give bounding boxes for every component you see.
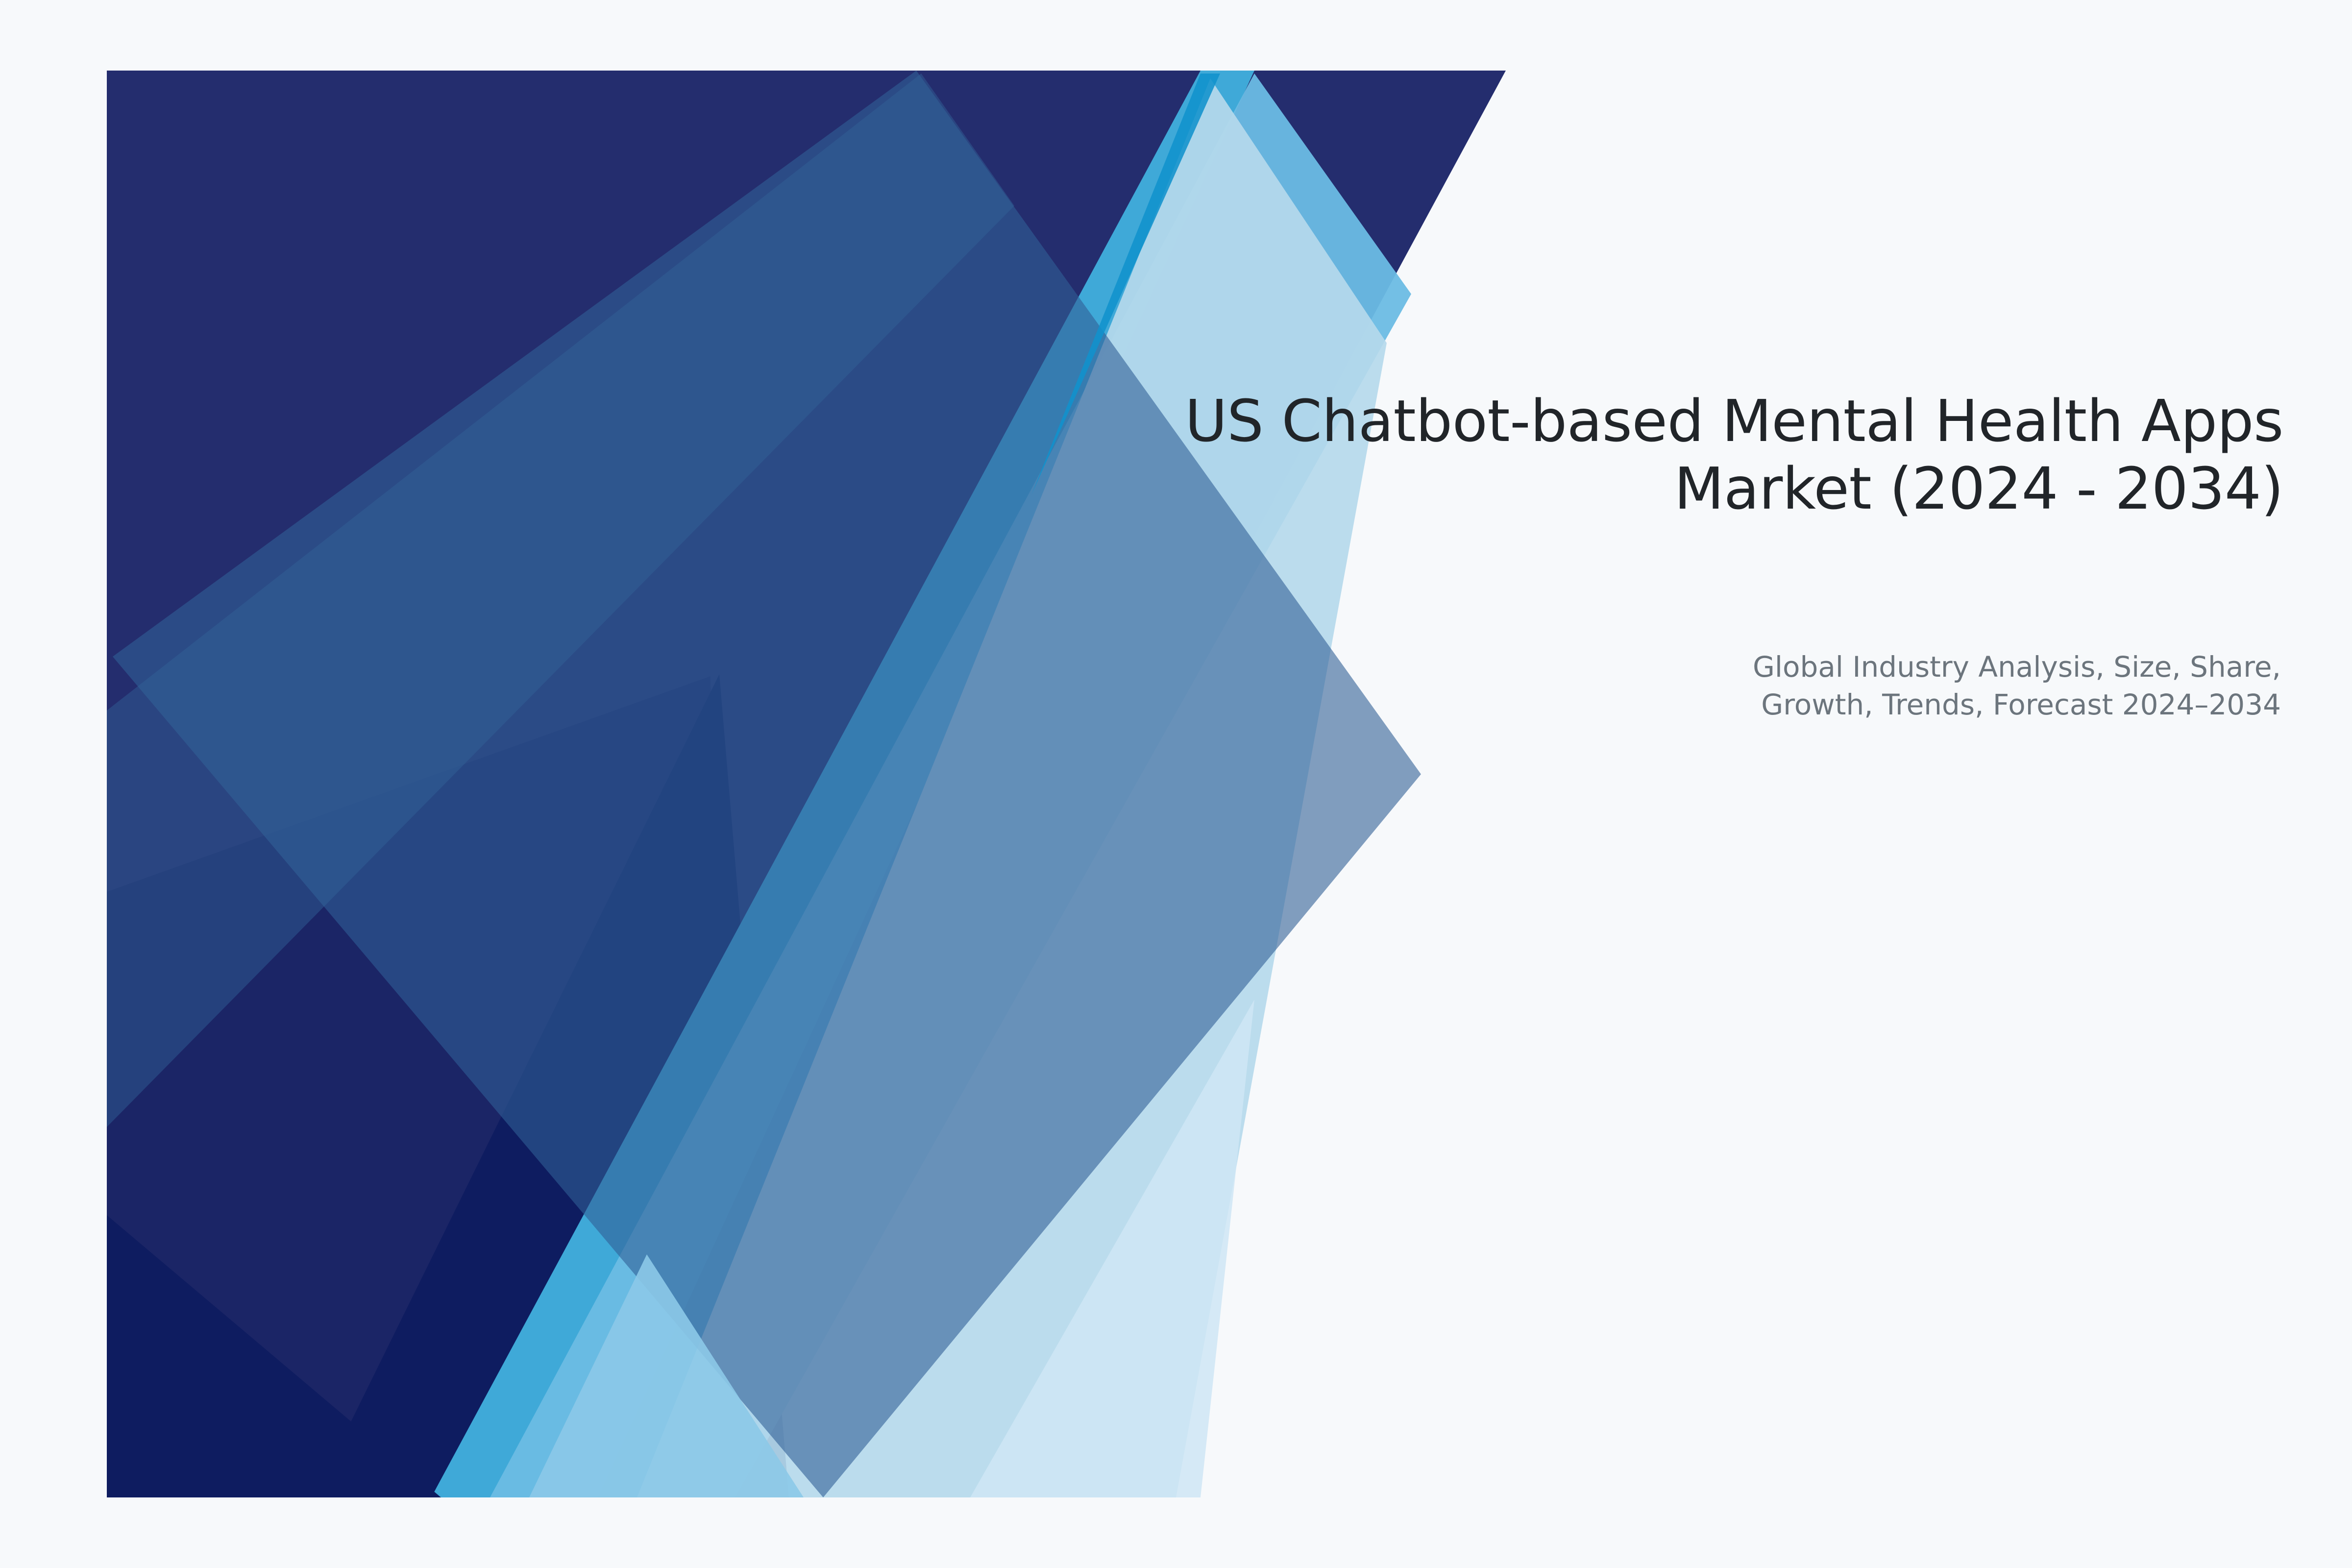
slide-canvas: US Chatbot-based Mental Health Apps Mark… (0, 0, 2352, 1568)
abstract-geometric-artwork (0, 0, 2352, 1568)
